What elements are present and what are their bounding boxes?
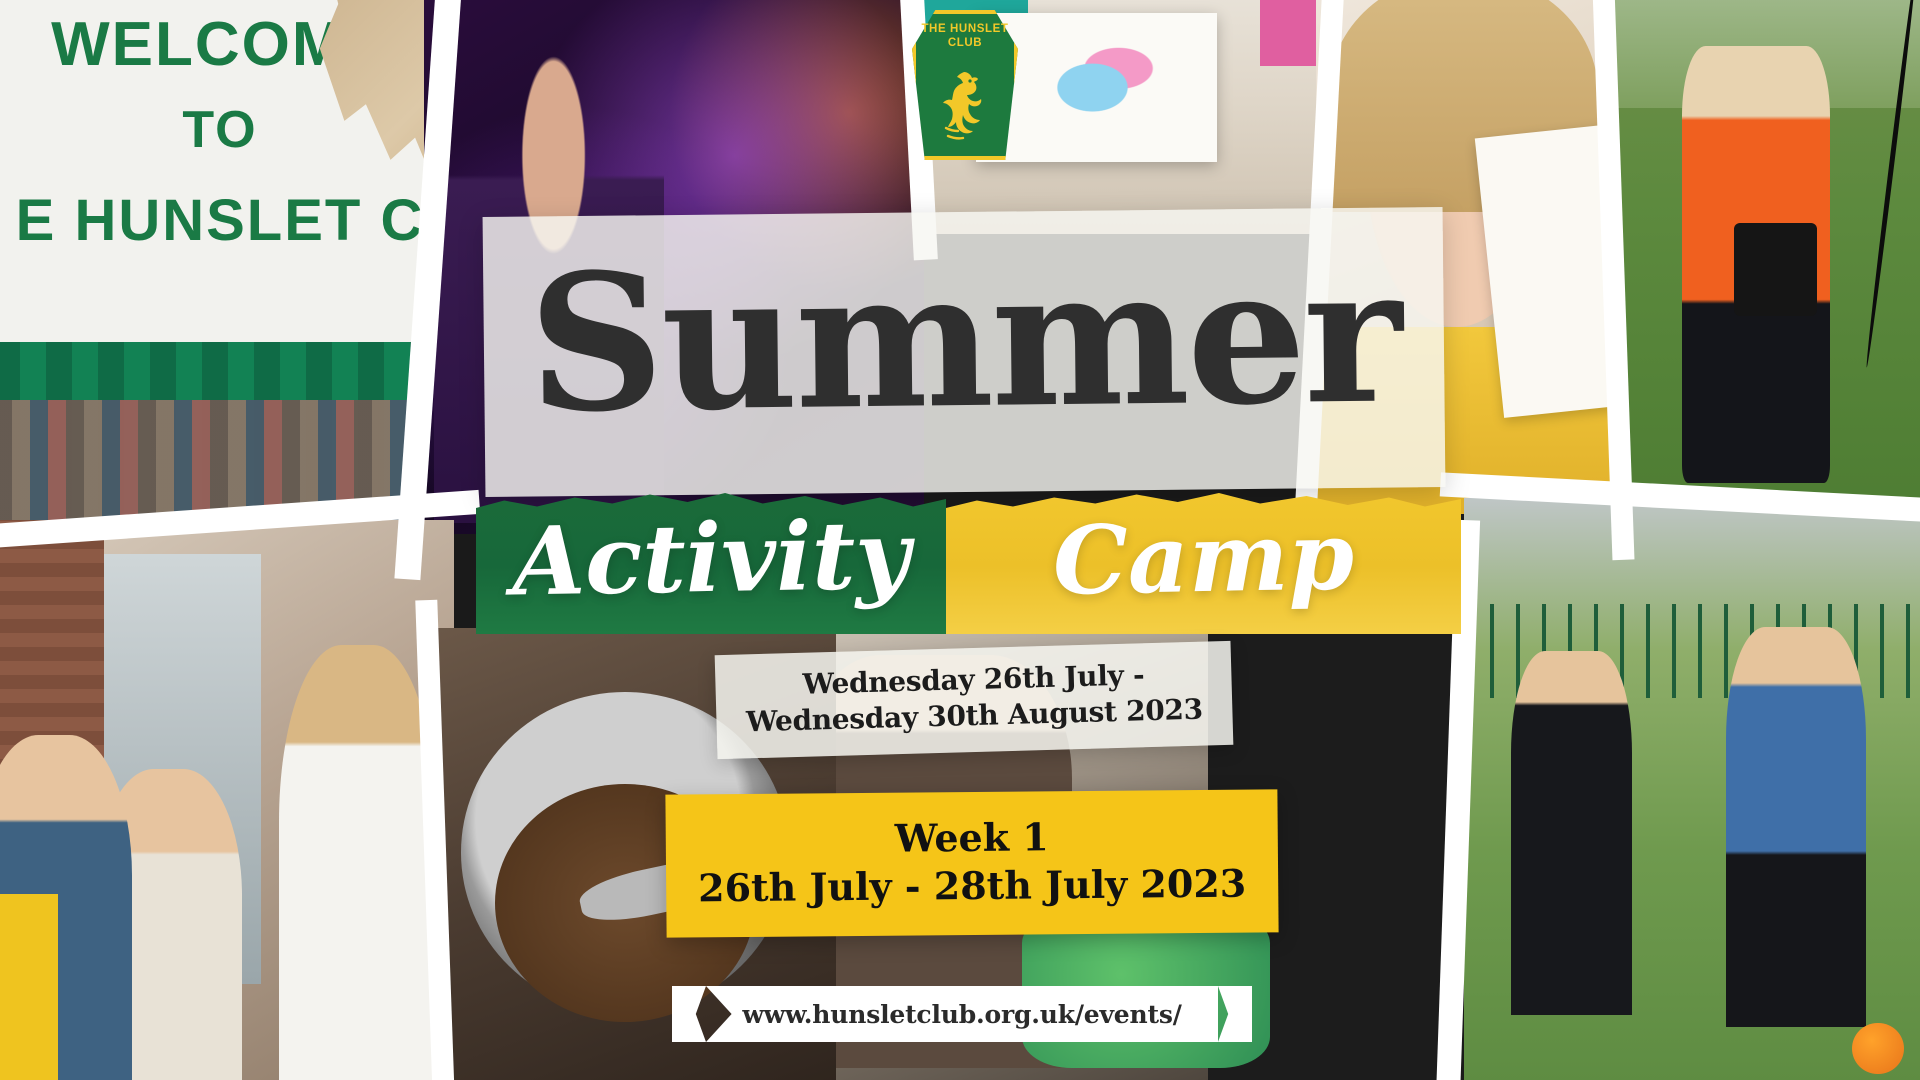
script-word-activity: Activity <box>475 508 947 610</box>
green-torn-band: Activity <box>476 484 946 634</box>
script-word-camp: Camp <box>945 508 1462 611</box>
unicorn-drawing <box>1011 32 1174 133</box>
logo-text: THE HUNSLET CLUB <box>912 22 1018 51</box>
page-title: Summer <box>483 241 1445 439</box>
welcome-sign-line-3: E HUNSLET C <box>0 185 446 258</box>
date-range-panel: Wednesday 26th July - Wednesday 30th Aug… <box>715 641 1234 759</box>
football <box>1852 1023 1903 1074</box>
child-yellow-top <box>0 894 58 1080</box>
hunslet-club-logo: THE HUNSLET CLUB <box>912 10 1018 160</box>
summer-paper-panel: Summer <box>483 207 1446 497</box>
photo-welcome-sign-hall: WELCOME TO E HUNSLET C <box>0 0 446 574</box>
week-label: Week 1 <box>676 811 1268 864</box>
poster-canvas: WELCOME TO E HUNSLET C <box>0 0 1920 1080</box>
shoulder-bag <box>1734 223 1817 317</box>
photo-children-cheering <box>0 520 454 1080</box>
photo-welcome-sign-hall-content: WELCOME TO E HUNSLET C <box>0 0 446 574</box>
logo-line-2: CLUB <box>912 36 1018 50</box>
girl-arm-raised <box>279 645 435 1080</box>
week-dates: 26th July - 28th July 2023 <box>676 859 1268 912</box>
photo-football-pitch-content <box>1464 498 1920 1080</box>
website-url-ribbon[interactable]: www.hunsletclub.org.uk/events/ <box>706 986 1218 1042</box>
lion-rampant-icon <box>934 66 996 146</box>
photo-archery-field-content <box>1612 0 1920 514</box>
yellow-torn-band: Camp <box>946 484 1461 634</box>
week-info-box: Week 1 26th July - 28th July 2023 <box>665 789 1278 937</box>
photo-archery-field <box>1612 0 1920 514</box>
website-url[interactable]: www.hunsletclub.org.uk/events/ <box>742 1000 1181 1029</box>
boy-black-hoodie <box>1511 651 1633 1016</box>
photo-children-cheering-content <box>0 520 454 1080</box>
photo-football-pitch <box>1464 498 1920 1080</box>
torn-bands: Activity Camp <box>476 484 1461 634</box>
boy-blue-bib <box>1726 627 1866 1027</box>
logo-line-1: THE HUNSLET <box>912 22 1018 36</box>
headline-block: Summer Activity Camp <box>484 212 1444 634</box>
